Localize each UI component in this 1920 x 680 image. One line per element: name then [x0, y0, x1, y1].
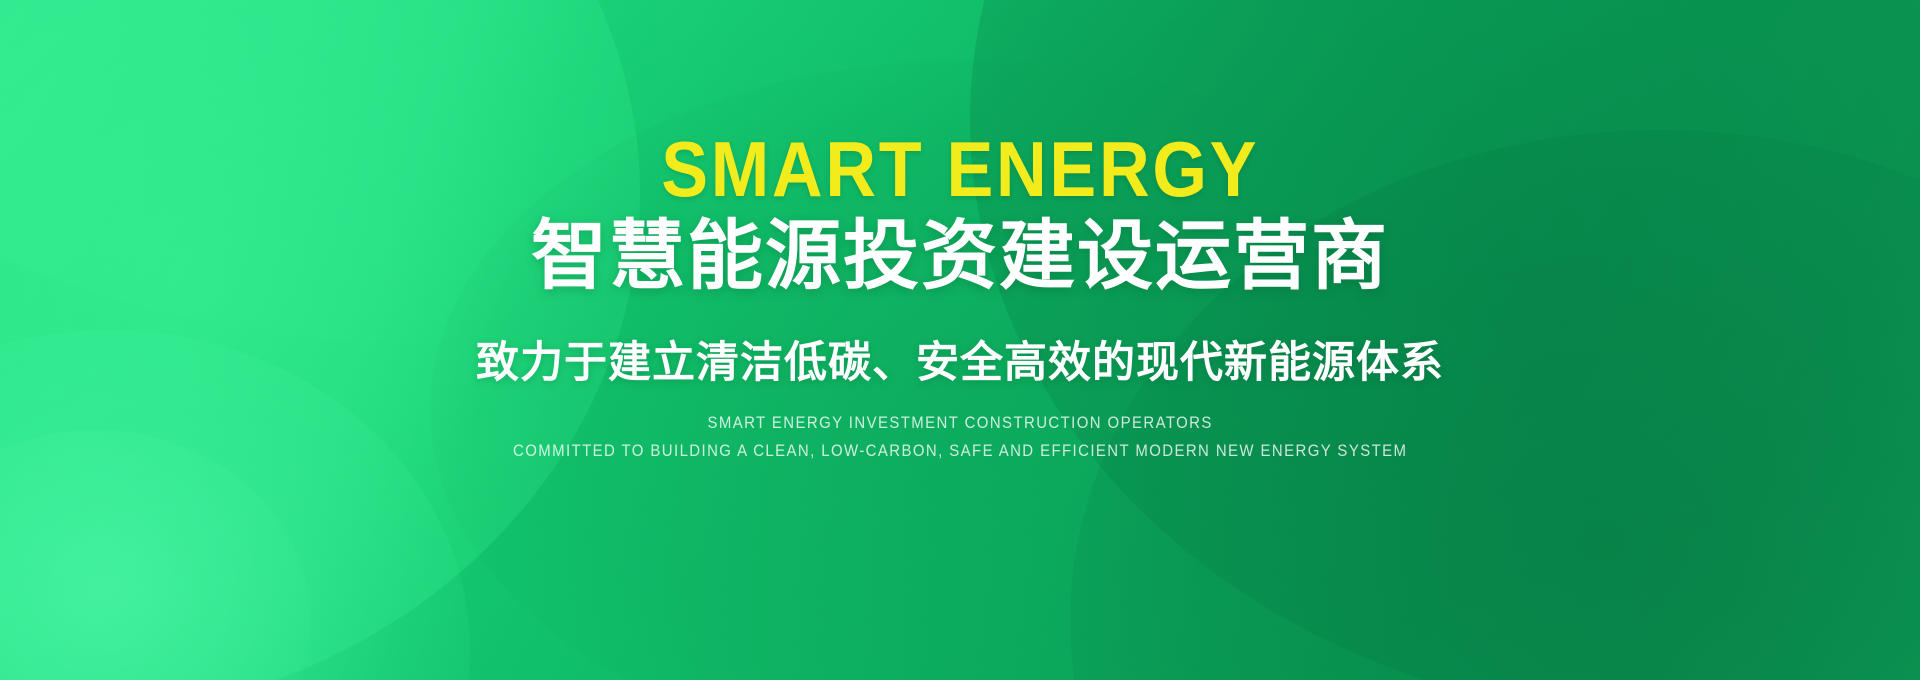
- caption-block: SMART ENERGY INVESTMENT CONSTRUCTION OPE…: [452, 412, 1468, 463]
- subtitle-chinese: 致力于建立清洁低碳、安全高效的现代新能源体系: [476, 338, 1444, 390]
- caption-line-1: SMART ENERGY INVESTMENT CONSTRUCTION OPE…: [707, 412, 1212, 435]
- hero-banner: SMART ENERGY 智慧能源投资建设运营商 致力于建立清洁低碳、安全高效的…: [0, 0, 1920, 680]
- caption-line-2: COMMITTED TO BUILDING A CLEAN, LOW-CARBO…: [513, 440, 1407, 463]
- headline-chinese: 智慧能源投资建设运营商: [531, 216, 1389, 298]
- headline-english: SMART ENERGY: [661, 130, 1259, 208]
- banner-content: SMART ENERGY 智慧能源投资建设运营商 致力于建立清洁低碳、安全高效的…: [0, 0, 1920, 680]
